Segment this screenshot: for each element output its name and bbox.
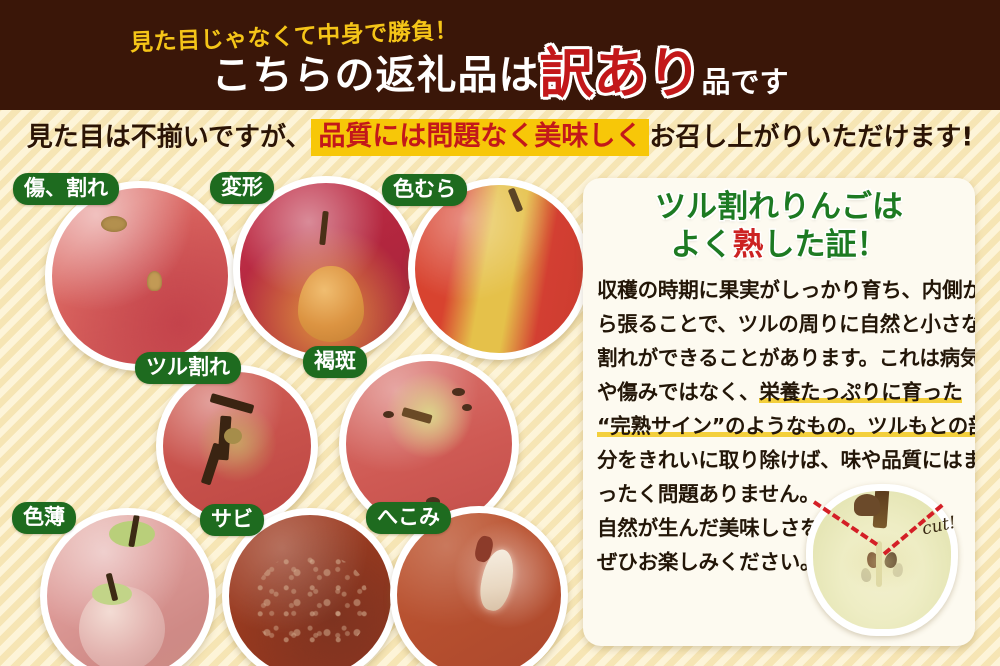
badge-irousu: 色薄 (12, 502, 76, 534)
title-highlight-wakeari: 訳あり (539, 47, 701, 101)
apple-photo (415, 185, 583, 353)
subheading-highlight: 品質には問題なく美味しく (311, 119, 649, 156)
panel-heading-line2-a: よく (671, 227, 733, 263)
body-line-emphasis: “完熟サイン”のようなもの。ツルもとの部 (597, 414, 975, 438)
subheading-after: お召し上がりいただけます! (649, 123, 973, 153)
core-halo (841, 532, 924, 593)
panel-heading: ツル割れりんごは よく熟した証！ (583, 188, 975, 269)
apple-cross-section: cut! (800, 478, 968, 644)
badge-kizu-ware: 傷、割れ (13, 173, 119, 205)
brown-spot (452, 388, 465, 396)
apple-photo (47, 515, 209, 666)
stem-cavity-dark (854, 494, 880, 516)
apple-photo (240, 183, 412, 355)
apple-item-irousu: 色薄 (22, 500, 222, 666)
header-bar: 見た目じゃなくて中身で勝負！ こちらの返礼品は訳あり品です (0, 0, 1000, 110)
body-line-underlined-2: “完熟サイン”のようなもの。ツルもとの部 (597, 409, 961, 443)
badge-iromura: 色むら (382, 174, 467, 206)
subheading-before: 見た目は不揃いですが、 (27, 123, 312, 153)
badge-sabi: サビ (200, 504, 264, 536)
body-line: ら張ることで、ツルの周りに自然と小さな (597, 307, 961, 341)
body-line: 割れができることがあります。これは病気 (597, 341, 961, 375)
apple-item-hekomi: へこみ (378, 498, 578, 666)
title-part-3: です (731, 65, 789, 99)
apple-skin (52, 188, 228, 364)
apple-skin (415, 185, 583, 353)
badge-hekomi: へこみ (366, 502, 451, 534)
page-title: こちらの返礼品は訳あり品です (0, 48, 1000, 103)
apple-skin (397, 513, 561, 666)
apple-photo (52, 188, 228, 364)
panel-heading-line1: ツル割れりんごは (583, 188, 975, 226)
panel-heading-line2-b: 熟 (733, 227, 764, 263)
subheading: 見た目は不揃いですが、品質には問題なく美味しくお召し上がりいただけます! (0, 118, 1000, 157)
badge-kappan: 褐斑 (303, 346, 367, 378)
body-line-emphasis: 栄養たっぷりに育った (759, 380, 962, 404)
promo-banner: 見た目じゃなくて中身で勝負！ こちらの返礼品は訳あり品です 見た目は不揃いですが… (0, 0, 1000, 666)
panel-heading-line2-c: した証！ (764, 227, 888, 263)
russet-texture (255, 554, 368, 654)
stem-base (224, 428, 242, 444)
apple-photo (397, 513, 561, 666)
brown-spot (383, 411, 394, 418)
badge-henkei: 変形 (210, 172, 274, 204)
body-line-plain: や傷みではなく、栄養たっぷりに育った (597, 380, 962, 404)
body-line: 収穫の時期に果実がしっかり育ち、内側か (597, 273, 961, 307)
badge-tsuruware: ツル割れ (135, 352, 241, 384)
body-line: 分をきれいに取り除けば、味や品質にはま (597, 443, 961, 477)
apple-photo-disc (45, 181, 235, 371)
panel-heading-line2: よく熟した証！ (583, 226, 975, 269)
title-part-2: 品 (701, 65, 730, 99)
title-part-1: こちらの返礼品は (211, 53, 539, 99)
blemish-mark (147, 271, 162, 291)
apple-photo (229, 515, 391, 666)
body-line-plain-prefix: や傷みではなく、 (597, 380, 759, 404)
apple-photo (163, 372, 311, 520)
body-line-underlined: や傷みではなく、栄養たっぷりに育った (597, 375, 961, 409)
apple-skin (163, 372, 311, 520)
